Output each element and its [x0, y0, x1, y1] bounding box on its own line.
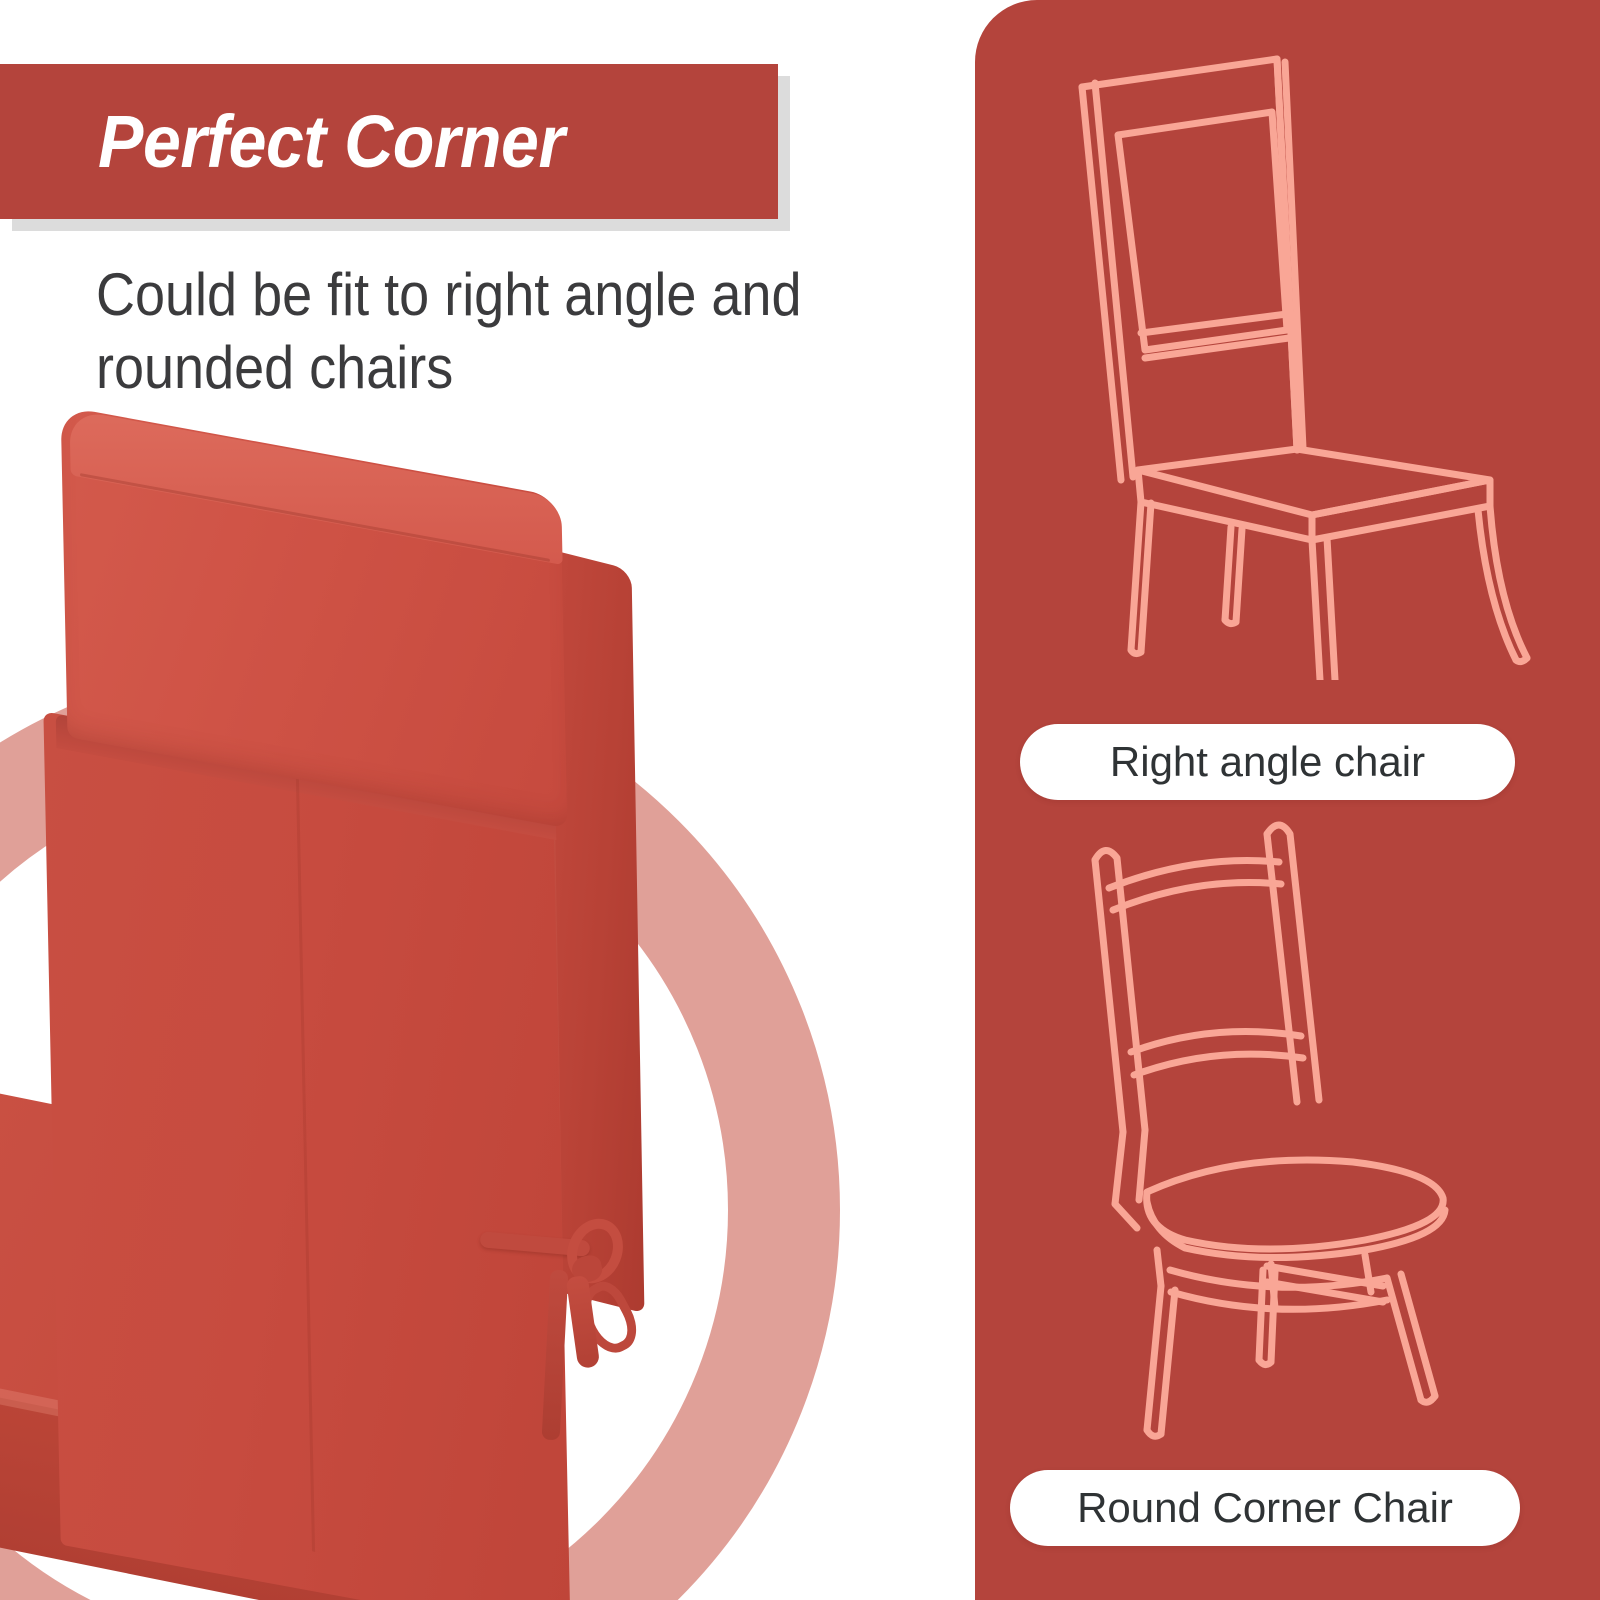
subtitle-text: Could be fit to right angle and rounded …: [96, 258, 870, 404]
chair-types-panel: Right angle chair: [975, 0, 1600, 1600]
left-content-column: Perfect Corner Could be fit to right ang…: [0, 0, 975, 1600]
chair-type-label-2: Round Corner Chair: [1010, 1470, 1520, 1546]
subtitle-line-2: rounded chairs: [96, 331, 870, 404]
right-angle-chair-icon: [1035, 40, 1555, 680]
product-cushion-image: [0, 430, 720, 1580]
chair-type-label-1: Right angle chair: [1020, 724, 1515, 800]
page-title: Perfect Corner: [98, 99, 564, 184]
round-corner-chair-icon: [1035, 800, 1555, 1460]
chair-type-label-1-text: Right angle chair: [1110, 738, 1425, 786]
title-banner: Perfect Corner: [0, 64, 778, 219]
chair-type-label-2-text: Round Corner Chair: [1077, 1484, 1453, 1532]
infographic-canvas: Perfect Corner Could be fit to right ang…: [0, 0, 1600, 1600]
back-cushion-panel: [43, 711, 570, 1600]
subtitle-line-1: Could be fit to right angle and: [96, 258, 870, 331]
